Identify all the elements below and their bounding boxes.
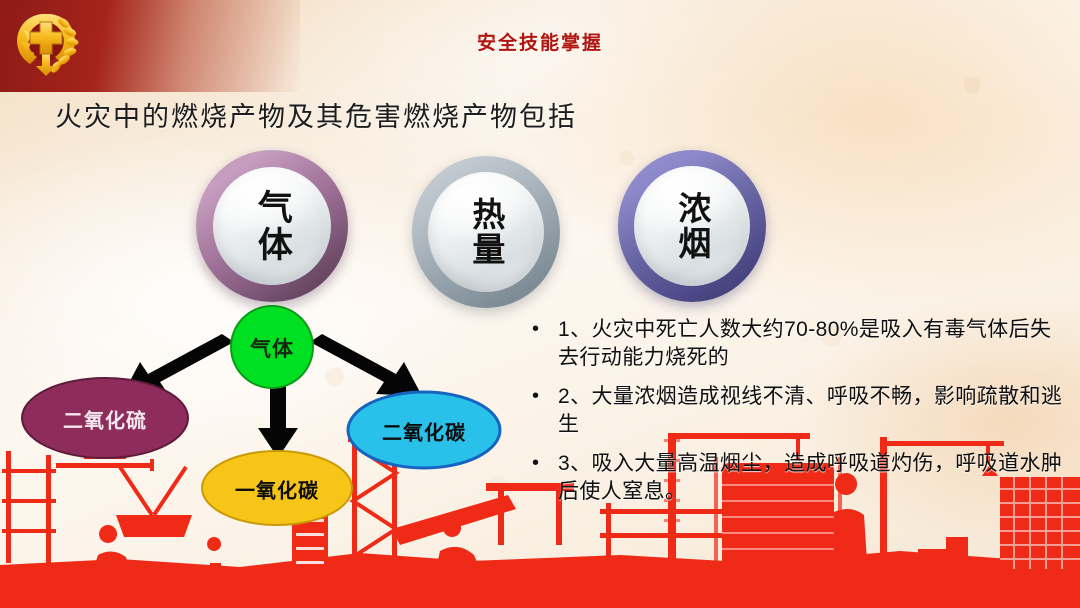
orb-heat: 热量	[412, 156, 560, 308]
orb-gas-face: 气体	[213, 167, 331, 285]
orb-gas: 气体	[196, 150, 348, 302]
subtitle-text: 火灾中的燃烧产物及其危害燃烧产物包括	[55, 95, 577, 134]
orb-heat-label: 热量	[469, 197, 503, 267]
slide-canvas: 安全技能掌握 火灾中的燃烧产物及其危害燃烧产物包括 气体 热量 浓烟	[0, 0, 1080, 608]
bullet-text: 1、火灾中死亡人数大约70-80%是吸入有毒气体后失去行动能力烧死的	[558, 316, 1068, 372]
node-so2-label: 二氧化硫	[63, 405, 147, 434]
orb-heat-face: 热量	[428, 172, 544, 292]
orb-smoke: 浓烟	[618, 150, 766, 302]
arrow-to-co2	[310, 334, 422, 396]
list-item: • 2、大量浓烟造成视线不清、呼吸不畅，影响疏散和逃生	[532, 383, 1068, 439]
node-co2-label: 二氧化碳	[382, 417, 466, 446]
node-co-label: 一氧化碳	[235, 475, 319, 504]
orb-smoke-label: 浓烟	[675, 191, 709, 261]
bullet-marker: •	[532, 450, 558, 477]
bullet-text: 2、大量浓烟造成视线不清、呼吸不畅，影响疏散和逃生	[558, 383, 1068, 439]
gas-products-diagram: 气体 二氧化硫 一氧化碳 二氧化碳	[0, 300, 530, 530]
page-title: 安全技能掌握	[0, 28, 1080, 55]
bullet-marker: •	[532, 316, 558, 343]
orb-smoke-face: 浓烟	[634, 166, 750, 286]
bullet-marker: •	[532, 383, 558, 410]
node-gas-source-label: 气体	[250, 333, 294, 363]
list-item: • 1、火灾中死亡人数大约70-80%是吸入有毒气体后失去行动能力烧死的	[532, 316, 1068, 372]
bullet-list: • 1、火灾中死亡人数大约70-80%是吸入有毒气体后失去行动能力烧死的 • 2…	[532, 316, 1068, 517]
orb-gas-label: 气体	[254, 189, 290, 263]
list-item: • 3、吸入大量高温烟尘，造成呼吸道灼伤，呼吸道水肿后使人窒息。	[532, 450, 1068, 506]
bullet-text: 3、吸入大量高温烟尘，造成呼吸道灼伤，呼吸道水肿后使人窒息。	[558, 450, 1068, 506]
